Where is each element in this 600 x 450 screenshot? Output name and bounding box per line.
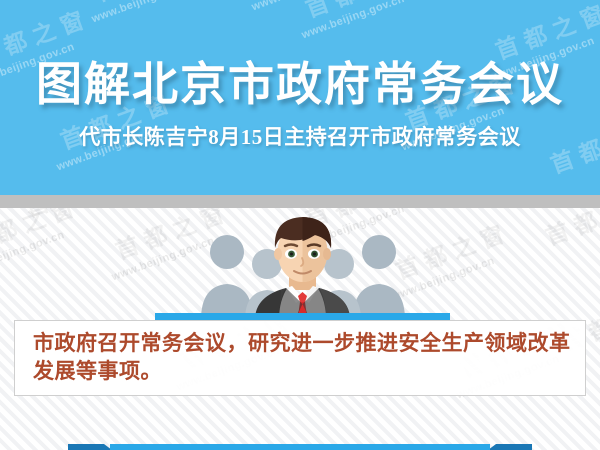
watermark-chinese: 首都之窗 (20, 208, 144, 224)
header-divider-bar (0, 195, 600, 208)
statement-box: 市政府召开常务会议，研究进一步推进安全生产领域改革发展等事项。 (14, 320, 586, 396)
statement-text: 市政府召开常务会议，研究进一步推进安全生产领域改革发展等事项。 (33, 330, 573, 385)
content-body: 首都之窗 www.beijing.gov.cn 首都之窗 首都之窗 www.be… (0, 208, 600, 450)
section-ribbon-banner (0, 436, 600, 450)
watermark-url: www.beijing.gov.cn (0, 229, 66, 277)
ribbon-left-tab (68, 444, 112, 450)
ribbon-right-tab (488, 444, 532, 450)
page-subtitle: 代市长陈吉宁8月15日主持召开市政府常务会议 (79, 126, 521, 149)
watermark-chinese: 首都之窗 (0, 208, 84, 260)
podium-desk-bar (155, 313, 450, 320)
watermark-chinese: 首都之窗 (540, 208, 600, 252)
infographic-page: 首都之窗 www.beijing.gov.cn 首都之窗 www.beijing… (0, 0, 600, 450)
page-title: 图解北京市政府常务会议 (36, 46, 564, 110)
official-at-podium-illustration (155, 208, 450, 320)
ribbon-main-bar (110, 444, 490, 450)
header-banner: 首都之窗 www.beijing.gov.cn 首都之窗 www.beijing… (0, 0, 600, 195)
